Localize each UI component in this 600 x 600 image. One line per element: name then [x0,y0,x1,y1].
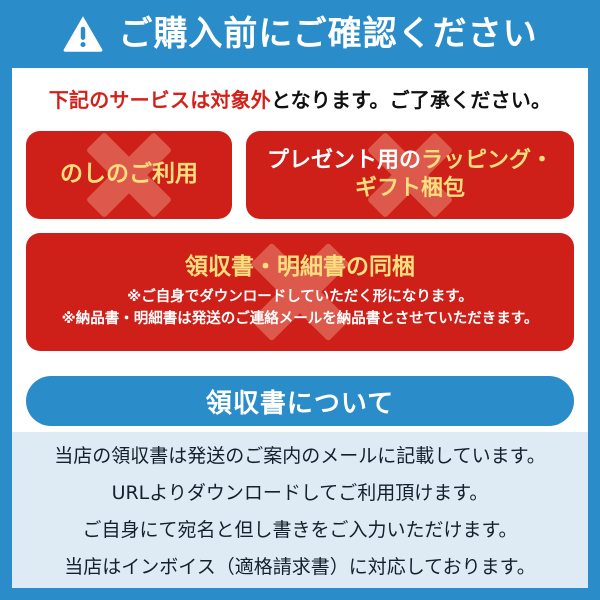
receipt-enclosure-headline: 領収書・明細書の同梱 [185,254,415,282]
exclusion-subtitle: 下記のサービスは対象外となります。ご了承ください。 [49,84,551,113]
gift-wrapping-line1-yellow: ラッピング・ [421,148,553,173]
receipt-section-heading: 領収書について [26,376,574,426]
receipt-enclosure-note-1: ※ご自身でダウンロードしていただく形になります。 [127,286,473,308]
excluded-card-gift-wrapping: プレゼント用のラッピング・ ギフト梱包 [246,131,574,219]
receipt-info-line: 当店はインボイス（適格請求書）に対応しております。 [64,556,535,579]
excluded-card-noshi-label: のしのご利用 [60,160,198,189]
gift-wrapping-line2: ギフト梱包 [355,176,465,201]
receipt-info-line: 当店の領収書は発送のご案内のメールに記載しています。 [54,445,546,468]
banner-header: ご購入前にご確認ください [12,0,588,68]
gift-wrapping-line1-white: プレゼント用の [267,148,421,173]
purchase-notice-banner: ご購入前にご確認ください 下記のサービスは対象外となります。ご了承ください。 の… [0,0,600,600]
excluded-card-gift-wrapping-label: プレゼント用のラッピング・ ギフト梱包 [267,147,553,203]
excluded-card-noshi: のしのご利用 [26,131,232,219]
page-title: ご購入前にご確認ください [118,17,537,51]
exclusion-subtitle-rest: となります。ご了承ください。 [271,88,551,112]
excluded-card-receipt-enclosure: 領収書・明細書の同梱 ※ご自身でダウンロードしていただく形になります。 ※納品書… [26,233,574,351]
warning-triangle-icon [62,13,104,55]
receipt-pill-wrap: 領収書について [12,370,588,432]
receipt-enclosure-note-2: ※納品書・明細書は発送のご連絡メールを納品書とさせていただきます。 [62,308,539,330]
receipt-info-section: 当店の領収書は発送のご案内のメールに記載しています。 URLよりダウンロードして… [12,432,588,588]
receipt-info-line: URLよりダウンロードしてご利用頂けます。 [112,482,489,505]
receipt-info-line: ご自身にて宛名と但し書きをご入力いただけます。 [82,519,517,542]
excluded-card-row: のしのご利用 プレゼント用のラッピング・ ギフト梱包 [26,131,574,219]
excluded-services-panel: 下記のサービスは対象外となります。ご了承ください。 のしのご利用 プレゼント用の… [12,68,588,370]
exclusion-subtitle-emphasis: 下記のサービスは対象外 [49,88,271,112]
